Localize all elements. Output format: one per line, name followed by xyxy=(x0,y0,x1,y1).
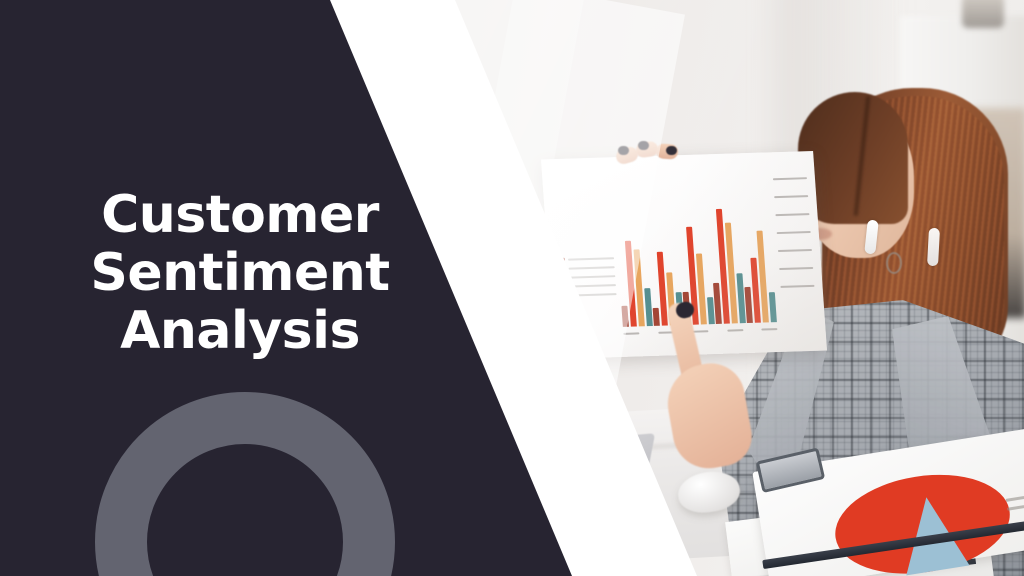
text-line xyxy=(1007,501,1024,511)
page-title: Customer Sentiment Analysis xyxy=(60,186,420,361)
palm xyxy=(662,358,757,474)
title-line-1: Customer xyxy=(60,186,420,244)
y-tick-label xyxy=(774,195,808,198)
legend-swatch-teal xyxy=(562,285,567,288)
held-chart-yaxis xyxy=(773,177,816,304)
legend-label xyxy=(569,275,615,278)
legend-swatch-extra xyxy=(562,294,567,297)
legend-swatch-red xyxy=(561,267,566,270)
legend-label xyxy=(570,284,616,287)
y-tick-label xyxy=(780,285,814,288)
title-line-2: Sentiment xyxy=(60,244,420,302)
y-tick-label xyxy=(779,267,813,270)
earbud-far-icon xyxy=(927,228,940,267)
legend-item xyxy=(562,289,617,300)
title-line-3: Analysis xyxy=(60,302,420,360)
slide-canvas: Customer Sentiment Analysis xyxy=(0,0,1024,576)
earring xyxy=(886,252,902,274)
bar-series-dark-red xyxy=(621,306,628,327)
legend-label xyxy=(570,293,616,296)
legend-label xyxy=(569,266,615,269)
fingernail xyxy=(618,146,629,155)
legend-swatch-dark-red xyxy=(560,258,565,261)
clipboard-text-lines xyxy=(1006,492,1024,517)
bar-series-teal xyxy=(769,293,777,323)
y-tick-label xyxy=(775,213,809,216)
legend-label xyxy=(568,257,614,260)
y-tick-label xyxy=(773,177,807,180)
hand-gripping-paper xyxy=(616,136,694,172)
held-chart-legend xyxy=(560,253,617,300)
fingernail xyxy=(666,146,677,155)
y-tick-label xyxy=(777,231,811,234)
fingernail xyxy=(638,141,649,150)
legend-swatch-orange xyxy=(561,276,566,279)
donut-ring-icon xyxy=(95,392,395,576)
y-tick-label xyxy=(778,249,812,252)
text-line xyxy=(1006,492,1024,502)
x-tick-label xyxy=(623,332,639,334)
